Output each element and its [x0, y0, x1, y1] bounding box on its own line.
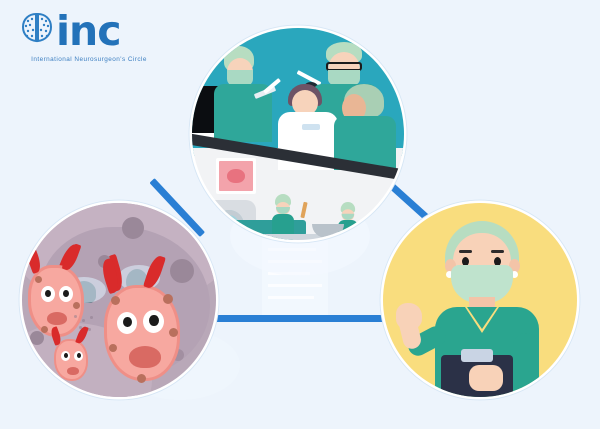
tumor-cell-eye [143, 310, 164, 333]
counter-surface [256, 234, 376, 240]
illustration-canvas: inc International Neurosurgeon's Circle [0, 0, 600, 429]
speckle-group [74, 315, 98, 333]
clipboard-clamp [461, 349, 493, 362]
watermark-line [268, 284, 322, 287]
logo-wordmark: inc [56, 11, 121, 52]
tumor-cell-spot [169, 328, 178, 337]
tumor-cell-spot [111, 296, 120, 305]
tumor-cell-spot [41, 326, 48, 333]
waving-hand-icon [396, 303, 422, 329]
tumor-cell-spot [73, 302, 80, 309]
watermark-line [268, 296, 314, 299]
tumor-cell-mouth [47, 312, 67, 325]
tumor-cell-eye [61, 351, 70, 361]
logo-tagline: International Neurosurgeon's Circle [16, 56, 162, 64]
tumor-cell-eye [59, 286, 73, 302]
patient-head [222, 219, 235, 231]
operating-room-scene [192, 28, 404, 240]
tumor-cell-small [54, 339, 88, 381]
nurse-eyebrow [459, 250, 472, 253]
tumor-cell-mouth [67, 367, 79, 375]
brain-icon [17, 10, 57, 50]
tissue-dot [170, 259, 194, 283]
tumor-cell-large [104, 285, 180, 381]
tissue-dot [30, 331, 44, 345]
nurse-scene [383, 203, 577, 397]
nurse-eyebrow [491, 250, 504, 253]
tumor-cell-spot [109, 344, 117, 352]
tumor-cell-eye [117, 312, 137, 334]
nurse-right-hand [469, 365, 503, 391]
nurse-right-arm [513, 333, 539, 389]
tumor-cell-mouth [129, 346, 161, 368]
badge-icon [302, 124, 320, 130]
brand-logo: inc International Neurosurgeon's Circle [12, 8, 162, 70]
brain-scan-picture [216, 158, 256, 194]
tumor-cell-spot [163, 294, 173, 304]
connector-left-to-right [200, 315, 396, 322]
tumor-cell-spot [137, 374, 146, 383]
tissue-dot [122, 217, 144, 239]
node-tumor-cells[interactable] [22, 203, 216, 397]
tumor-cells-scene [22, 203, 216, 397]
tumor-cell-spot [35, 276, 42, 283]
tumor-cell-eye [41, 286, 55, 302]
node-operating-room[interactable] [192, 28, 404, 240]
tumor-cell-eye [74, 351, 83, 361]
node-surgical-nurse[interactable] [383, 203, 577, 397]
